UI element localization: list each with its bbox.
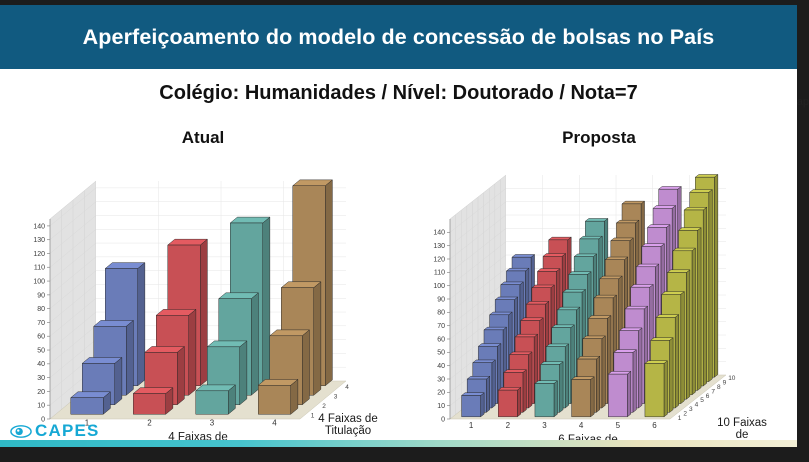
svg-text:4: 4 — [695, 402, 699, 409]
svg-text:0: 0 — [441, 416, 445, 423]
svg-text:70: 70 — [37, 320, 45, 327]
svg-text:70: 70 — [437, 323, 445, 330]
svg-text:130: 130 — [433, 243, 445, 250]
svg-text:40: 40 — [437, 363, 445, 370]
svg-text:10: 10 — [728, 375, 736, 382]
svg-text:8: 8 — [717, 384, 721, 391]
svg-text:4: 4 — [579, 421, 584, 430]
svg-text:2: 2 — [147, 418, 152, 427]
svg-text:2: 2 — [506, 421, 511, 430]
svg-text:3: 3 — [334, 393, 338, 400]
capes-logo: CAPES — [10, 421, 100, 441]
svg-text:4 Faixas de: 4 Faixas de — [318, 413, 377, 425]
capes-eye-icon — [10, 424, 32, 439]
chart-proposta: Proposta 0102030405060708090100110120130… — [404, 128, 794, 454]
svg-text:30: 30 — [437, 376, 445, 383]
svg-text:1: 1 — [678, 415, 682, 422]
chart-atual: Atual 0102030405060708090100110120130140… — [8, 128, 398, 454]
svg-text:6: 6 — [652, 421, 657, 430]
capes-wordmark: CAPES — [35, 421, 100, 441]
svg-text:130: 130 — [33, 237, 45, 244]
svg-text:10: 10 — [37, 403, 45, 410]
bottom-edge-strip — [0, 447, 809, 462]
svg-text:1: 1 — [469, 421, 474, 430]
slide-header-bar: Aperfeiçoamento do modelo de concessão d… — [0, 5, 797, 69]
right-edge-strip — [797, 0, 809, 462]
svg-text:60: 60 — [437, 336, 445, 343]
svg-text:110: 110 — [434, 270, 445, 277]
svg-text:10: 10 — [437, 403, 445, 410]
chart-atual-title: Atual — [8, 128, 398, 148]
slide-title: Aperfeiçoamento do modelo de concessão d… — [83, 25, 715, 50]
svg-text:120: 120 — [433, 256, 445, 263]
svg-text:110: 110 — [34, 265, 45, 272]
svg-text:40: 40 — [37, 361, 45, 368]
svg-text:50: 50 — [37, 347, 45, 354]
chart-proposta-title: Proposta — [404, 128, 794, 148]
chart-atual-canvas: 0102030405060708090100110120130140123412… — [8, 154, 398, 454]
svg-text:Titulação: Titulação — [325, 425, 371, 437]
svg-text:60: 60 — [37, 334, 45, 341]
svg-text:9: 9 — [723, 380, 727, 387]
svg-text:120: 120 — [33, 251, 45, 258]
svg-text:80: 80 — [37, 306, 45, 313]
svg-text:5: 5 — [616, 421, 621, 430]
svg-text:90: 90 — [437, 296, 445, 303]
svg-text:10 Faixas: 10 Faixas — [717, 417, 767, 429]
svg-text:20: 20 — [437, 390, 445, 397]
svg-text:7: 7 — [711, 388, 715, 395]
chart-proposta-canvas: 0102030405060708090100110120130140123456… — [404, 154, 794, 454]
svg-text:20: 20 — [37, 389, 45, 396]
svg-text:80: 80 — [437, 310, 445, 317]
edge-text-artifact: ap — [797, 96, 809, 108]
svg-text:2: 2 — [683, 410, 687, 417]
svg-text:140: 140 — [33, 223, 45, 230]
footer-gradient-rule — [0, 440, 797, 447]
svg-text:6: 6 — [706, 393, 710, 400]
header-divider — [0, 69, 797, 72]
svg-text:90: 90 — [37, 292, 45, 299]
svg-text:30: 30 — [37, 375, 45, 382]
svg-text:1: 1 — [311, 412, 315, 419]
svg-text:3: 3 — [542, 421, 547, 430]
svg-text:50: 50 — [437, 350, 445, 357]
svg-text:3: 3 — [689, 406, 693, 413]
svg-text:100: 100 — [33, 278, 45, 285]
svg-text:2: 2 — [322, 403, 326, 410]
svg-text:4: 4 — [345, 384, 349, 391]
svg-text:140: 140 — [433, 230, 445, 237]
svg-text:3: 3 — [210, 418, 215, 427]
svg-text:100: 100 — [433, 283, 445, 290]
slide-subtitle: Colégio: Humanidades / Nível: Doutorado … — [0, 82, 797, 105]
svg-text:5: 5 — [700, 397, 704, 404]
presentation-slide: Aperfeiçoamento do modelo de concessão d… — [0, 0, 809, 462]
svg-text:4: 4 — [272, 418, 277, 427]
